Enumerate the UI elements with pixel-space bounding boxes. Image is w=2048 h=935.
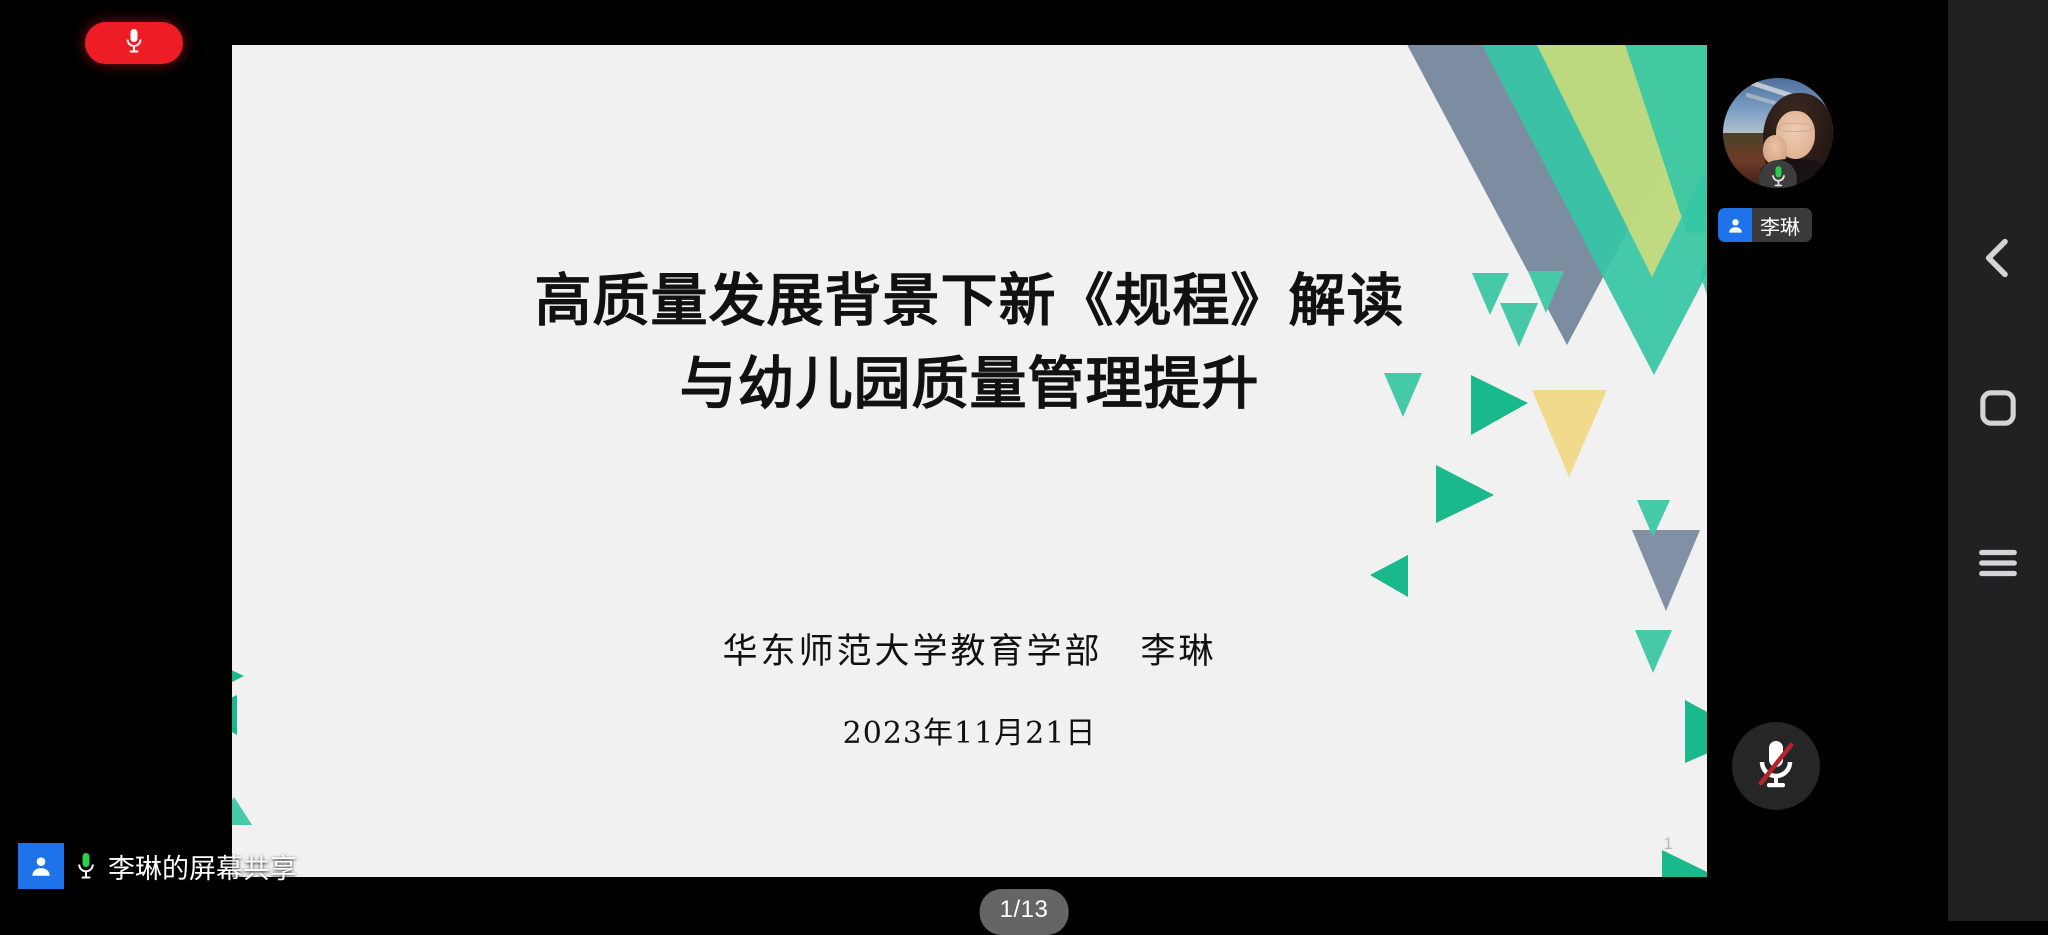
recording-indicator[interactable] [85,22,183,64]
microphone-icon [124,28,144,59]
mute-button[interactable] [1732,722,1820,810]
hamburger-menu-icon[interactable] [1970,535,2026,591]
slide-author: 华东师范大学教育学部 李琳 [232,623,1707,674]
shared-screen-slide[interactable]: 高质量发展背景下新《规程》解读 与幼儿园质量管理提升 华东师范大学教育学部 李琳… [232,45,1707,877]
back-chevron-icon[interactable] [1970,230,2026,286]
microphone-muted-icon [1754,738,1798,795]
presenter-thumbnail[interactable]: 李琳 [1723,78,1833,260]
microphone-icon [1770,165,1787,188]
presenter-name: 李琳 [1760,211,1800,240]
person-icon [18,843,64,889]
screen-share-label: 李琳的屏幕共享 [108,847,297,886]
page-indicator: 1/13 [980,889,1069,935]
slide-date: 2023年11月21日 [232,708,1707,752]
square-home-icon[interactable] [1970,380,2026,436]
microphone-icon [76,852,96,880]
screen-share-banner: 李琳的屏幕共享 [18,843,297,889]
avatar-glasses [1778,123,1813,132]
navigation-rail [1948,0,2048,921]
slide-title-line-2: 与幼儿园质量管理提升 [232,343,1707,426]
slide-page-number: 1 [1664,834,1673,854]
avatar[interactable] [1723,78,1833,188]
person-icon [1718,208,1752,242]
slide-title: 高质量发展背景下新《规程》解读 与幼儿园质量管理提升 [232,260,1707,425]
presenter-name-tag: 李琳 [1718,208,1812,242]
slide-right-triangles [232,45,1707,877]
slide-title-line-1: 高质量发展背景下新《规程》解读 [232,260,1707,343]
